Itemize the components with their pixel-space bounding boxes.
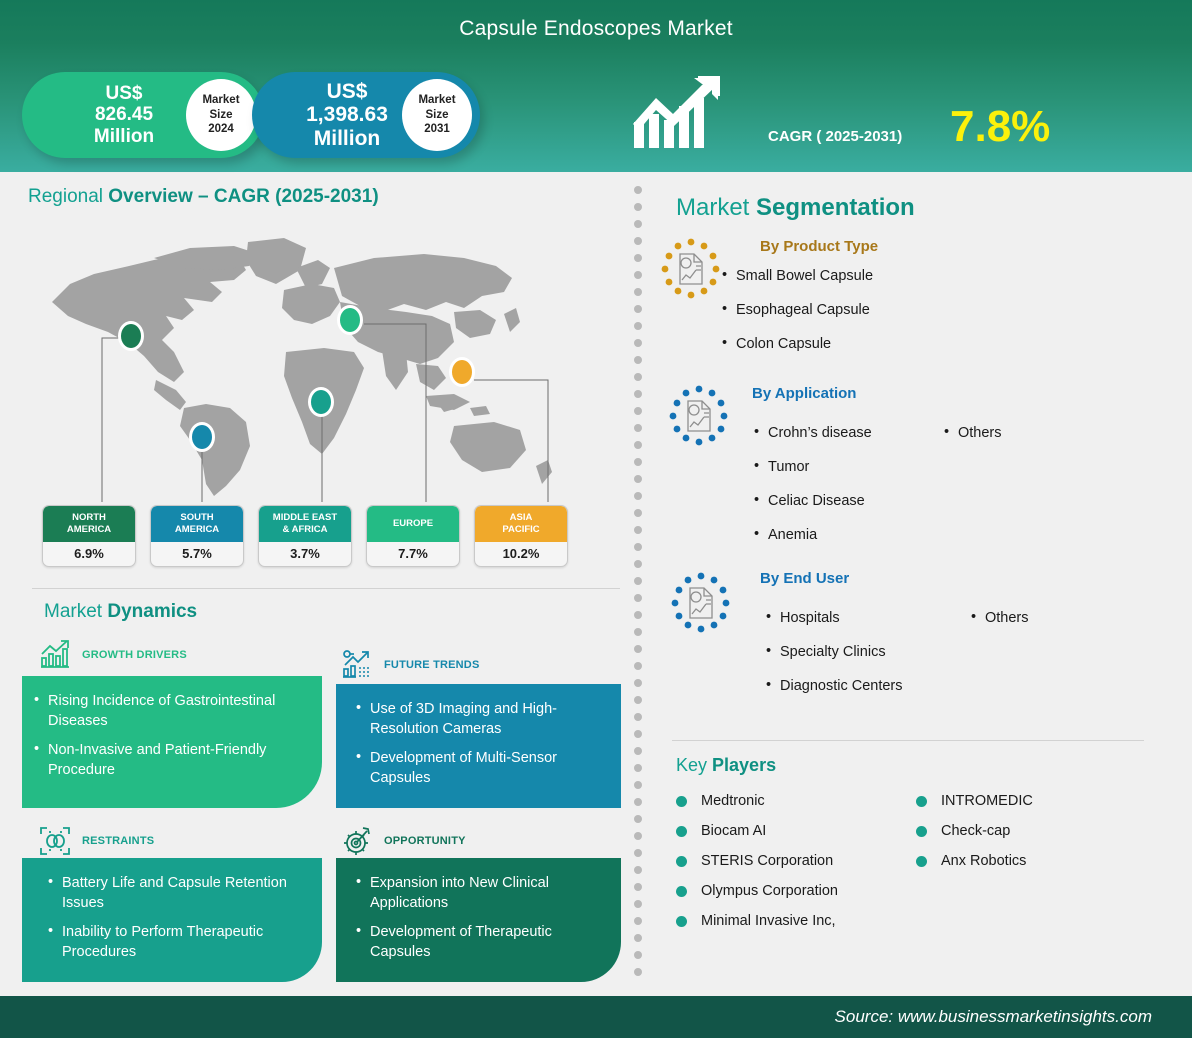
kp-title-light: Key xyxy=(676,755,712,775)
badge1-line1: Market xyxy=(202,93,239,108)
trend-line-chart-icon xyxy=(340,648,374,682)
key-player-name: Medtronic xyxy=(701,793,765,809)
region3-name1: EUROPE xyxy=(393,518,433,530)
pill1-line1: US$ xyxy=(36,83,212,104)
future-trend-item: Use of 3D Imaging and High-Resolution Ca… xyxy=(356,700,607,739)
bullet-dot-icon xyxy=(916,856,927,867)
future-trends-kicker: FUTURE TRENDS xyxy=(384,659,480,671)
key-players-divider xyxy=(672,740,1144,741)
future-trends-list: Use of 3D Imaging and High-Resolution Ca… xyxy=(356,700,607,788)
seg-title-light: Market xyxy=(676,194,756,221)
footer-bar: Source: www.businessmarketinsights.com xyxy=(0,996,1192,1038)
application-item: Celiac Disease xyxy=(752,492,942,511)
seg-title-bold: Segmentation xyxy=(756,194,915,221)
market-size-2031-pill: US$ 1,398.63 Million Market Size 2031 xyxy=(252,72,480,158)
product-type-item: Esophageal Capsule xyxy=(720,301,960,320)
key-player-name: Anx Robotics xyxy=(941,853,1026,869)
region1-name2: AMERICA xyxy=(175,524,219,535)
segment-by-end-user: By End User Hospitals Specialty Clinics … xyxy=(660,570,1180,711)
growth-drivers-list: Rising Incidence of Gastrointestinal Dis… xyxy=(34,692,308,780)
growth-arrow-chart-icon xyxy=(628,76,722,154)
key-player-row: Check-cap xyxy=(916,816,1156,846)
by-application-heading: By Application xyxy=(752,385,1180,402)
by-application-list-col2: Others xyxy=(942,424,1002,559)
source-text: Source: www.businessmarketinsights.com xyxy=(835,1007,1152,1027)
region-cagr-cards: NORTH AMERICA 6.9% SOUTH AMERICA 5.7% MI… xyxy=(42,505,622,567)
key-players-col1: Medtronic Biocam AI STERIS Corporation O… xyxy=(676,786,916,936)
opportunity-item: Expansion into New Clinical Applications xyxy=(356,874,607,913)
market-dynamics-title: Market Dynamics xyxy=(44,601,197,623)
key-players-col2: INTROMEDIC Check-cap Anx Robotics xyxy=(916,786,1156,936)
product-type-item: Colon Capsule xyxy=(720,335,960,354)
opportunity-list: Expansion into New Clinical Applications… xyxy=(356,874,607,962)
key-player-name: INTROMEDIC xyxy=(941,793,1033,809)
opportunity-kicker: OPPORTUNITY xyxy=(384,835,466,847)
key-player-name: STERIS Corporation xyxy=(701,853,833,869)
bullet-dot-icon xyxy=(916,826,927,837)
region0-value: 6.9% xyxy=(43,542,135,566)
key-player-row: STERIS Corporation xyxy=(676,846,916,876)
restraints-kicker: RESTRAINTS xyxy=(82,835,154,847)
region-card-europe[interactable]: EUROPE 7.7% xyxy=(366,505,460,567)
pill1-line3: Million xyxy=(36,126,212,147)
key-player-name: Check-cap xyxy=(941,823,1010,839)
gear-target-icon xyxy=(340,824,374,858)
region1-value: 5.7% xyxy=(151,542,243,566)
opportunity-card: Expansion into New Clinical Applications… xyxy=(336,858,621,982)
region-card-south-america[interactable]: SOUTH AMERICA 5.7% xyxy=(150,505,244,567)
map-landmasses xyxy=(52,238,552,496)
by-application-list-col1: Crohn’s disease Tumor Celiac Disease Ane… xyxy=(752,424,942,559)
dynamics-title-light: Market xyxy=(44,601,107,622)
badge2-line2: Size xyxy=(425,108,448,123)
bullet-dot-icon xyxy=(676,886,687,897)
growth-drivers-card: Rising Incidence of Gastrointestinal Dis… xyxy=(22,676,322,808)
segment-by-application: By Application Crohn’s disease Tumor Cel… xyxy=(660,385,1180,559)
chain-link-icon xyxy=(38,824,72,858)
key-player-row: Olympus Corporation xyxy=(676,876,916,906)
document-chart-icon xyxy=(670,572,732,634)
opportunity-item: Development of Therapeutic Capsules xyxy=(356,923,607,962)
bullet-dot-icon xyxy=(676,796,687,807)
cagr-value: 7.8% xyxy=(950,102,1050,152)
growth-drivers-header: GROWTH DRIVERS xyxy=(38,638,187,672)
left-divider xyxy=(32,588,620,589)
region0-name1: NORTH xyxy=(72,512,106,523)
document-chart-icon xyxy=(660,238,722,300)
by-end-user-list-col1: Hospitals Specialty Clinics Diagnostic C… xyxy=(764,609,969,711)
region-card-middle-east-africa[interactable]: MIDDLE EAST & AFRICA 3.7% xyxy=(258,505,352,567)
infographic-page: Capsule Endoscopes Market US$ 826.45 Mil… xyxy=(0,0,1192,1038)
regional-title-bold: Overview – CAGR (2025-2031) xyxy=(108,186,378,207)
restraints-card: Battery Life and Capsule Retention Issue… xyxy=(22,858,322,982)
growth-driver-item: Non-Invasive and Patient-Friendly Proced… xyxy=(34,741,308,780)
key-player-name: Olympus Corporation xyxy=(701,883,838,899)
region-card-asia-pacific[interactable]: ASIA PACIFIC 10.2% xyxy=(474,505,568,567)
world-map xyxy=(34,232,614,502)
by-product-type-list: Small Bowel Capsule Esophageal Capsule C… xyxy=(720,267,960,369)
application-item: Others xyxy=(942,424,1002,443)
end-user-item: Hospitals xyxy=(764,609,969,628)
by-end-user-heading: By End User xyxy=(760,570,1180,587)
future-trends-card: Use of 3D Imaging and High-Resolution Ca… xyxy=(336,684,621,808)
application-item: Anemia xyxy=(752,526,942,545)
region0-name2: AMERICA xyxy=(67,524,111,535)
future-trends-header: FUTURE TRENDS xyxy=(340,648,480,682)
cagr-label: CAGR ( 2025-2031) xyxy=(768,128,902,145)
key-players-lists: Medtronic Biocam AI STERIS Corporation O… xyxy=(676,786,1156,936)
key-player-row: INTROMEDIC xyxy=(916,786,1156,816)
key-player-row: Anx Robotics xyxy=(916,846,1156,876)
key-player-row: Minimal Invasive Inc, xyxy=(676,906,916,936)
region-card-north-america[interactable]: NORTH AMERICA 6.9% xyxy=(42,505,136,567)
region4-name2: PACIFIC xyxy=(502,524,539,535)
region2-value: 3.7% xyxy=(259,542,351,566)
opportunity-header: OPPORTUNITY xyxy=(340,824,466,858)
segment-by-product-type: By Product Type Small Bowel Capsule Esop… xyxy=(660,238,1180,369)
bullet-dot-icon xyxy=(676,826,687,837)
application-item: Crohn’s disease xyxy=(752,424,942,443)
region1-name1: SOUTH xyxy=(180,512,213,523)
badge2-line1: Market xyxy=(418,93,455,108)
restraints-list: Battery Life and Capsule Retention Issue… xyxy=(48,874,308,962)
region2-name1: MIDDLE EAST xyxy=(273,512,337,523)
bullet-dot-icon xyxy=(676,856,687,867)
region2-name2: & AFRICA xyxy=(282,524,327,535)
growth-driver-item: Rising Incidence of Gastrointestinal Dis… xyxy=(34,692,308,731)
bar-chart-up-icon xyxy=(38,638,72,672)
region3-value: 7.7% xyxy=(367,542,459,566)
key-player-name: Minimal Invasive Inc, xyxy=(701,913,836,929)
market-segmentation-title: Market Segmentation xyxy=(676,194,915,222)
pill2-line3: Million xyxy=(266,127,428,151)
world-map-svg xyxy=(34,232,614,502)
market-size-2024-pill: US$ 826.45 Million Market Size 2024 xyxy=(22,72,264,158)
restraints-header: RESTRAINTS xyxy=(38,824,154,858)
bullet-dot-icon xyxy=(916,796,927,807)
region4-value: 10.2% xyxy=(475,542,567,566)
future-trend-item: Development of Multi-Sensor Capsules xyxy=(356,749,607,788)
region4-name1: ASIA xyxy=(510,512,533,523)
badge1-line2: Size xyxy=(209,108,232,123)
growth-drivers-kicker: GROWTH DRIVERS xyxy=(82,649,187,661)
page-title: Capsule Endoscopes Market xyxy=(0,17,1192,41)
pill2-line1: US$ xyxy=(266,80,428,104)
market-size-2024-badge: Market Size 2024 xyxy=(186,79,256,151)
restraint-item: Inability to Perform Therapeutic Procedu… xyxy=(48,923,308,962)
bullet-dot-icon xyxy=(676,916,687,927)
key-player-row: Biocam AI xyxy=(676,816,916,846)
dynamics-title-bold: Dynamics xyxy=(107,601,197,622)
regional-overview-title: Regional Overview – CAGR (2025-2031) xyxy=(28,186,379,208)
header-banner: Capsule Endoscopes Market US$ 826.45 Mil… xyxy=(0,0,1192,172)
document-chart-icon xyxy=(668,385,730,447)
product-type-item: Small Bowel Capsule xyxy=(720,267,960,286)
by-product-type-heading: By Product Type xyxy=(760,238,1180,255)
kp-title-bold: Players xyxy=(712,755,776,775)
regional-title-light: Regional xyxy=(28,186,108,207)
vertical-dotted-divider xyxy=(634,186,644,986)
restraint-item: Battery Life and Capsule Retention Issue… xyxy=(48,874,308,913)
key-player-name: Biocam AI xyxy=(701,823,766,839)
market-size-2031-badge: Market Size 2031 xyxy=(402,79,472,151)
badge2-line3: 2031 xyxy=(424,122,450,137)
by-end-user-list-col2: Others xyxy=(969,609,1029,711)
end-user-item: Diagnostic Centers xyxy=(764,677,969,696)
end-user-item: Specialty Clinics xyxy=(764,643,969,662)
key-player-row: Medtronic xyxy=(676,786,916,816)
application-item: Tumor xyxy=(752,458,942,477)
end-user-item: Others xyxy=(969,609,1029,628)
key-players-title: Key Players xyxy=(676,755,776,776)
badge1-line3: 2024 xyxy=(208,122,234,137)
